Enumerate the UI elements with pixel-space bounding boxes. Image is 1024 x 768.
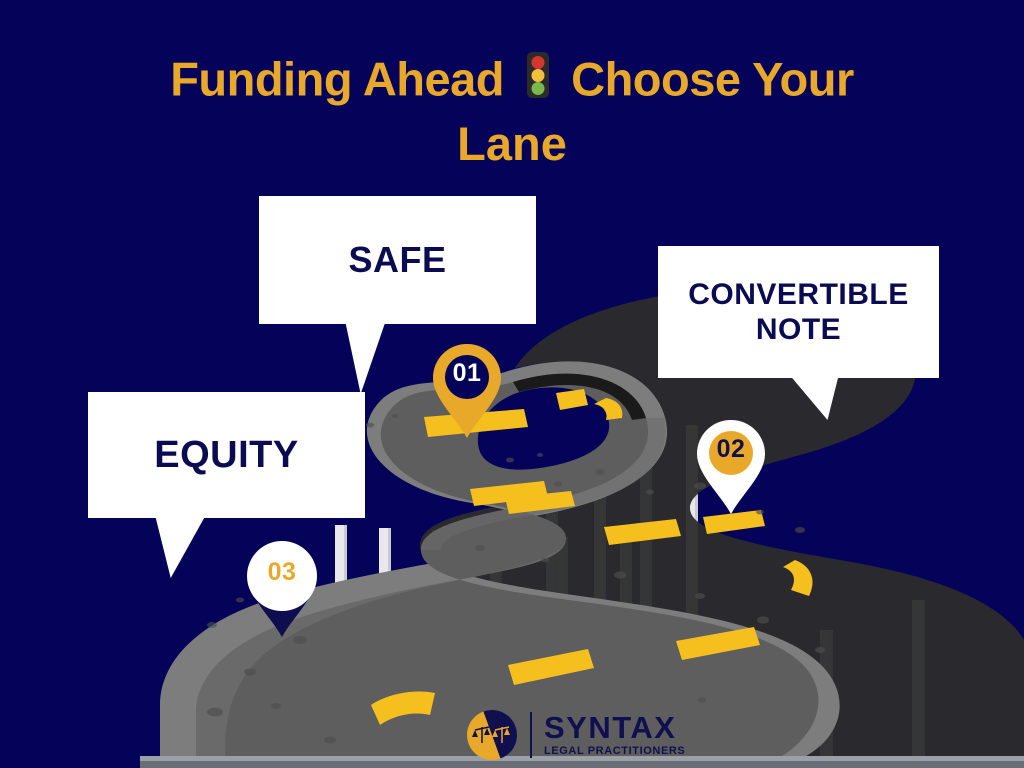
- traffic-light-green-lamp: [531, 82, 544, 95]
- map-pin-01-icon: [428, 342, 506, 440]
- infographic-poster: Funding Ahead Choose Your Lane SAFE CONV…: [0, 0, 1024, 768]
- traffic-light-icon: [527, 52, 549, 98]
- map-pin-02[interactable]: 02: [692, 418, 770, 516]
- poster-title: Funding Ahead Choose Your Lane: [0, 44, 1024, 176]
- callout-bubble-convertible-note[interactable]: CONVERTIBLE NOTE: [658, 246, 939, 378]
- logo-wordmark: SYNTAX LEGAL PRACTITIONERS: [544, 712, 685, 758]
- map-pin-03[interactable]: 03: [243, 541, 321, 639]
- brand-logo[interactable]: SYNTAX LEGAL PRACTITIONERS: [466, 708, 685, 762]
- map-pin-02-icon: [692, 418, 770, 516]
- callout-label-convertible-note: CONVERTIBLE NOTE: [672, 277, 925, 348]
- traffic-light-amber-lamp: [531, 69, 544, 82]
- title-line-2: Lane: [0, 112, 1024, 176]
- callout-bubble-equity[interactable]: EQUITY: [88, 392, 365, 518]
- logo-company-name: SYNTAX: [544, 712, 685, 744]
- callout-label-equity: EQUITY: [154, 433, 298, 478]
- road-kerb-shadow: [140, 761, 1024, 768]
- traffic-light-red-lamp: [531, 56, 544, 69]
- title-text-after: Choose Your: [571, 53, 854, 106]
- title-line-1: Funding Ahead Choose Your: [0, 44, 1024, 112]
- map-pin-03-icon: [243, 541, 321, 639]
- callout-label-safe: SAFE: [348, 239, 446, 281]
- scales-of-justice-icon: [466, 709, 518, 761]
- map-pin-01[interactable]: 01: [428, 342, 506, 440]
- logo-tagline: LEGAL PRACTITIONERS: [544, 744, 685, 758]
- logo-divider: [530, 712, 532, 758]
- callout-bubble-safe[interactable]: SAFE: [259, 196, 536, 324]
- title-text-before: Funding Ahead: [170, 53, 504, 106]
